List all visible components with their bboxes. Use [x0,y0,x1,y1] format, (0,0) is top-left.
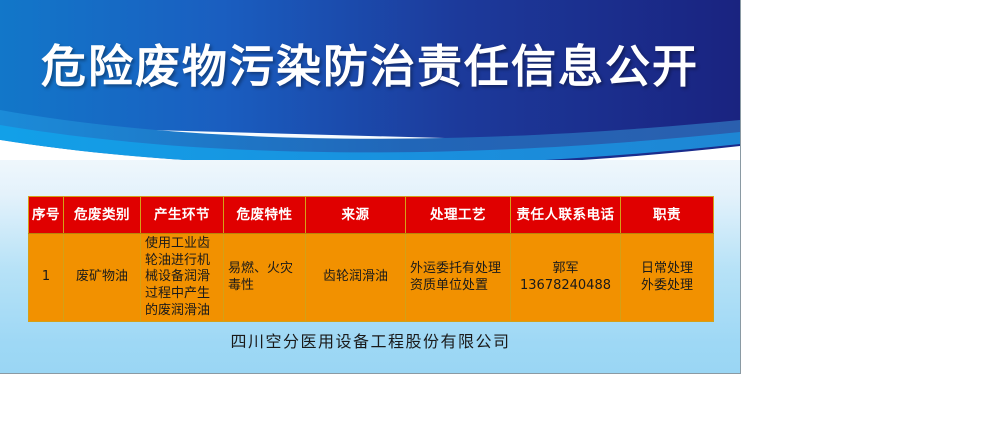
duty-line-1: 日常处理 [625,261,709,278]
cell-seq: 1 [29,234,64,322]
contact-person-name: 郭军 [515,261,616,278]
cell-category: 废矿物油 [64,234,141,322]
cell-duty: 日常处理 外委处理 [621,234,714,322]
col-header-duty: 职责 [621,197,714,234]
col-header-property: 危废特性 [224,197,306,234]
poster-banner: 危险废物污染防治责任信息公开 [0,0,740,160]
information-disclosure-poster: 危险废物污染防治责任信息公开 序号 危废类别 产生环节 危废特性 来源 处理工艺… [0,0,741,374]
col-header-source: 来源 [306,197,406,234]
col-header-category: 危废类别 [64,197,141,234]
cell-stage: 使用工业齿轮油进行机械设备润滑过程中产生的废润滑油 [141,234,224,322]
cell-source: 齿轮润滑油 [306,234,406,322]
cell-process: 外运委托有处理资质单位处置 [406,234,511,322]
page-title: 危险废物污染防治责任信息公开 [0,44,740,89]
company-name: 四川空分医用设备工程股份有限公司 [28,328,713,352]
cell-contact: 郭军 13678240488 [511,234,621,322]
table-header-row: 序号 危废类别 产生环节 危废特性 来源 处理工艺 责任人联系电话 职责 [29,197,714,234]
col-header-seq: 序号 [29,197,64,234]
hazardous-waste-table: 序号 危废类别 产生环节 危废特性 来源 处理工艺 责任人联系电话 职责 1 废… [28,196,714,322]
cell-property: 易燃、火灾毒性 [224,234,306,322]
col-header-contact: 责任人联系电话 [511,197,621,234]
col-header-stage: 产生环节 [141,197,224,234]
table-row: 1 废矿物油 使用工业齿轮油进行机械设备润滑过程中产生的废润滑油 易燃、火灾毒性… [29,234,714,322]
col-header-process: 处理工艺 [406,197,511,234]
duty-line-2: 外委处理 [625,278,709,295]
contact-phone-number: 13678240488 [515,278,616,295]
